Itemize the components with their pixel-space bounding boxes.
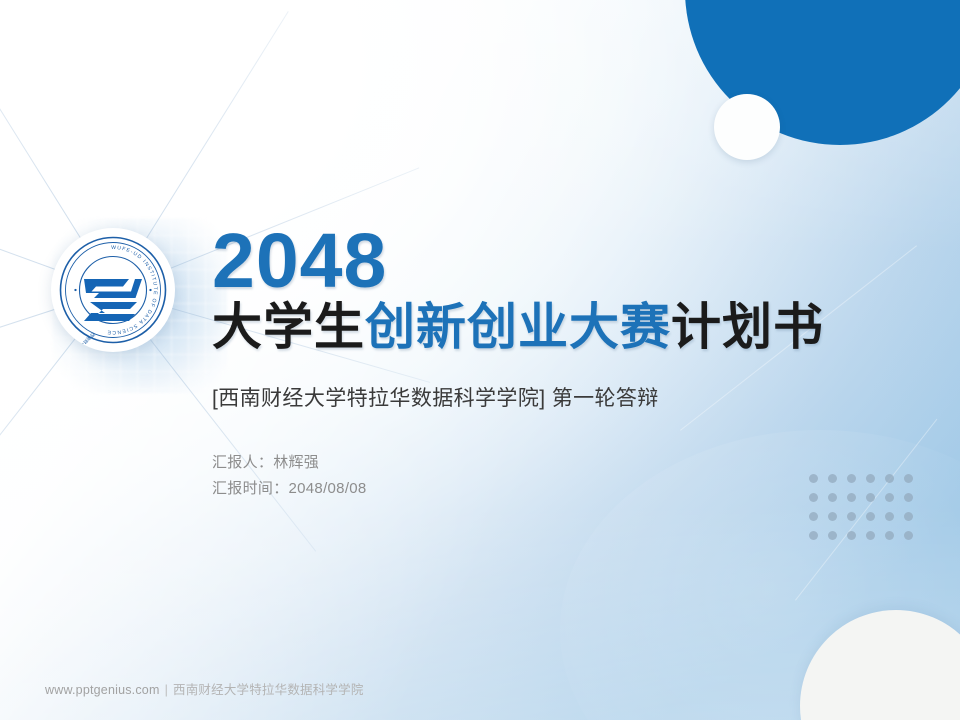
- title-text-block: 2048 大学生创新创业大赛计划书 [西南财经大学特拉华数据科学学院] 第一轮答…: [212, 226, 912, 501]
- dot-grid-dot: [866, 531, 875, 540]
- logo-zone: SWUFE-UD INSTITUTE OF DATA SCIENCE 西南财经大…: [18, 196, 208, 386]
- dot-grid-dot: [809, 531, 818, 540]
- dot-grid-dot: [885, 531, 894, 540]
- slide-year: 2048: [212, 226, 912, 297]
- university-logo: SWUFE-UD INSTITUTE OF DATA SCIENCE 西南财经大…: [59, 236, 167, 344]
- dot-grid-dot: [809, 512, 818, 521]
- presentation-slide: SWUFE-UD INSTITUTE OF DATA SCIENCE 西南财经大…: [0, 0, 960, 720]
- footer-site-url[interactable]: www.pptgenius.com: [45, 683, 160, 697]
- dot-grid-dot: [847, 512, 856, 521]
- report-date-line: 汇报时间：2048/08/08: [212, 476, 912, 502]
- headline-part-highlight: 创新创业大赛: [365, 299, 671, 355]
- slide-meta-block: 汇报人：林辉强 汇报时间：2048/08/08: [212, 450, 912, 502]
- dot-grid-dot: [904, 512, 913, 521]
- slide-subtitle: [西南财经大学特拉华数据科学学院] 第一轮答辩: [212, 382, 912, 412]
- dot-grid-dot: [828, 531, 837, 540]
- headline-part-1: 大学生: [212, 299, 365, 355]
- dot-grid-dot: [847, 531, 856, 540]
- headline-part-2: 计划书: [671, 299, 824, 355]
- slide-headline: 大学生创新创业大赛计划书: [212, 300, 912, 354]
- dot-grid-dot: [828, 512, 837, 521]
- dot-grid-dot: [885, 512, 894, 521]
- slide-footer: www.pptgenius.com|西南财经大学特拉华数据科学学院: [45, 679, 364, 698]
- footer-separator: |: [165, 683, 168, 697]
- dot-grid-dot: [866, 512, 875, 521]
- reporter-line: 汇报人：林辉强: [212, 450, 912, 476]
- decorative-white-circle-accent: [714, 94, 780, 160]
- footer-organization: 西南财经大学特拉华数据科学学院: [173, 683, 364, 697]
- dot-grid-dot: [904, 531, 913, 540]
